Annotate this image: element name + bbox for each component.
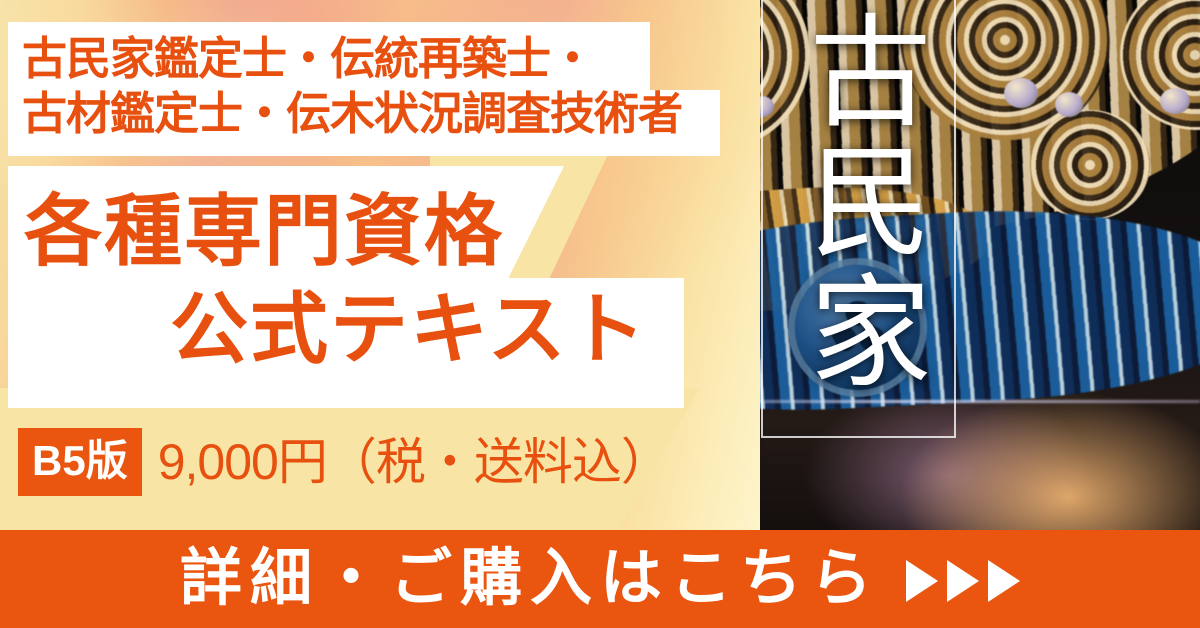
carving-knob bbox=[1160, 88, 1190, 114]
headline-line-1: 古民家鑑定士・伝統再築士・ bbox=[22, 36, 594, 81]
headline-line-2: 古材鑑定士・伝木状況調査技術者 bbox=[22, 91, 682, 136]
title-line-2: 公式テキスト bbox=[170, 290, 648, 368]
triangle-right-icon bbox=[988, 560, 1020, 602]
promo-banner: 古民家 伝統構法、古民家活用のための調査と再生の 古民家鑑定士・伝統再築士・ 古… bbox=[0, 0, 1200, 628]
triangle-right-icon bbox=[947, 560, 979, 602]
carving-knob bbox=[1004, 78, 1038, 108]
carving-knob bbox=[1055, 92, 1083, 117]
carving-curl bbox=[1030, 110, 1150, 220]
price-row: B5版 9,000円（税・送料込） bbox=[18, 428, 670, 496]
triangle-right-icon bbox=[906, 560, 938, 602]
format-badge: B5版 bbox=[18, 428, 142, 496]
price-amount: 9,000円（税・送料込） bbox=[158, 437, 670, 487]
title-line-1: 各種専門資格 bbox=[24, 192, 504, 270]
headline-card: 古民家鑑定士・伝統再築士・ 古材鑑定士・伝木状況調査技術者 bbox=[8, 22, 720, 156]
cta-label: 詳細・ご購入はこちら bbox=[180, 548, 880, 610]
cta-button[interactable]: 詳細・ご購入はこちら bbox=[0, 530, 1200, 628]
cta-arrows bbox=[906, 560, 1020, 602]
title-text-group: 各種専門資格 公式テキスト bbox=[0, 166, 700, 408]
book-cover-title: 古民家 bbox=[795, 8, 923, 398]
